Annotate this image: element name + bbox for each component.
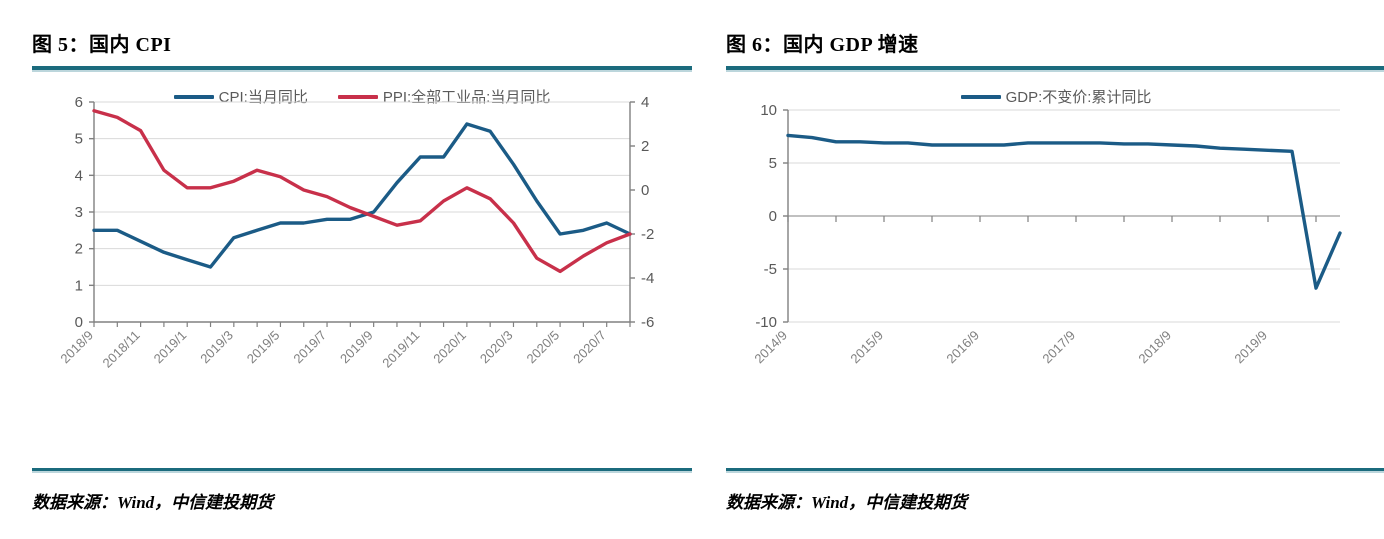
figure-title-cpi: 图 5：国内 CPI [32,0,692,57]
source-note-left: 数据来源：Wind，中信建投期货 [32,488,273,513]
axis-label-left: 6 [75,94,83,111]
axis-label-x: 2015/9 [847,328,886,367]
axis-label-x: 2018/9 [57,328,96,367]
source-divider-left-secondary [32,471,692,473]
axis-label-x: 2019/1 [151,328,190,367]
axis-label-x: 2019/7 [290,328,329,367]
axis-label-left: 1 [75,277,83,294]
axis-label-right: 0 [641,182,649,199]
axis-label-right: 4 [641,94,649,111]
axis-label-left: 3 [75,204,83,221]
axis-label-left: 5 [769,155,777,172]
axis-label-x: 2019/5 [244,328,283,367]
axis-label-left: -10 [755,314,777,331]
axis-label-left: 10 [760,102,777,119]
data-line-gdp [788,135,1340,288]
axis-label-left: -5 [764,261,777,278]
axis-label-x: 2020/5 [523,328,562,367]
figure-panel-gdp: 图 6：国内 GDP 增速 GDP:不变价:累计同比 -10-505102014… [726,0,1384,539]
chart-cpi: CPI:当月同比 PPI:全部工业品:当月同比 0123456-6-4-2024… [32,72,692,432]
axis-label-x: 2019/3 [197,328,236,367]
axis-label-x: 2014/9 [751,328,790,367]
figure-panel-cpi: 图 5：国内 CPI CPI:当月同比 PPI:全部工业品:当月同比 01234… [32,0,692,539]
axis-label-left: 0 [769,208,777,225]
data-line-ppi [94,111,630,272]
axis-label-right: -6 [641,314,654,331]
axis-label-x: 2020/3 [477,328,516,367]
axis-label-x: 2019/9 [337,328,376,367]
axis-label-right: -4 [641,270,654,287]
axis-label-x: 2018/9 [1135,328,1174,367]
chart-gdp: GDP:不变价:累计同比 -10-505102014/92015/92016/9… [726,72,1384,432]
axis-label-right: -2 [641,226,654,243]
source-note-right: 数据来源：Wind，中信建投期货 [726,488,967,513]
source-divider-right-secondary [726,471,1384,473]
plot-svg-gdp: -10-505102014/92015/92016/92017/92018/92… [726,72,1384,432]
axis-label-left: 4 [75,167,83,184]
axis-label-left: 5 [75,131,83,148]
axis-label-x: 2016/9 [943,328,982,367]
axis-label-x: 2019/11 [379,328,422,371]
axis-label-right: 2 [641,138,649,155]
axis-label-left: 0 [75,314,83,331]
axis-label-x: 2017/9 [1039,328,1078,367]
figure-title-gdp: 图 6：国内 GDP 增速 [726,0,1384,57]
axis-label-x: 2020/7 [570,328,609,367]
report-page: 图 5：国内 CPI CPI:当月同比 PPI:全部工业品:当月同比 01234… [0,0,1384,539]
plot-svg-cpi: 0123456-6-4-20242018/92018/112019/12019/… [32,72,692,432]
axis-label-x: 2018/11 [100,328,143,371]
axis-label-x: 2019/9 [1231,328,1270,367]
axis-label-x: 2020/1 [430,328,469,367]
data-line-cpi [94,124,630,267]
axis-label-left: 2 [75,241,83,258]
